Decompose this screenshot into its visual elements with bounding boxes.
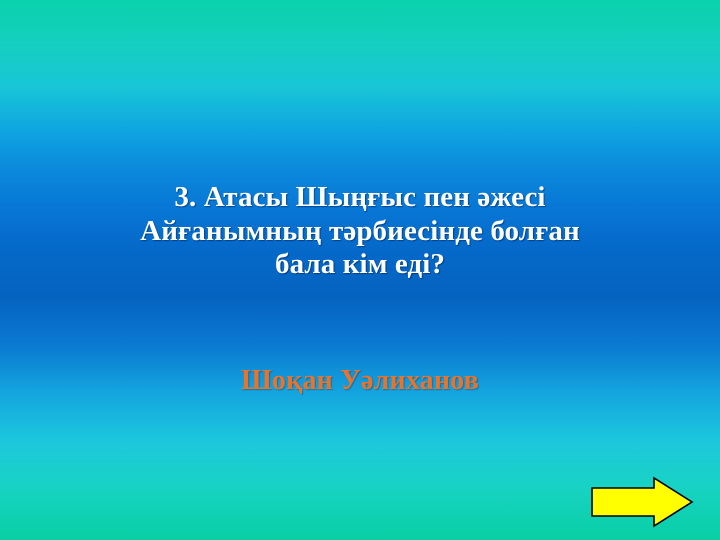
question-line-2: Айғанымның тәрбиесінде болған	[0, 215, 720, 249]
slide-canvas: 3. Атасы Шыңғыс пен әжесі Айғанымның тәр…	[0, 0, 720, 540]
arrow-right-icon	[588, 474, 696, 530]
next-slide-button[interactable]	[588, 474, 696, 530]
question-text: 3. Атасы Шыңғыс пен әжесі Айғанымның тәр…	[0, 181, 720, 282]
question-line-1: 3. Атасы Шыңғыс пен әжесі	[0, 181, 720, 215]
question-line-3: бала кім еді?	[0, 248, 720, 282]
answer-text: Шоқан Уәлиханов	[0, 365, 720, 397]
